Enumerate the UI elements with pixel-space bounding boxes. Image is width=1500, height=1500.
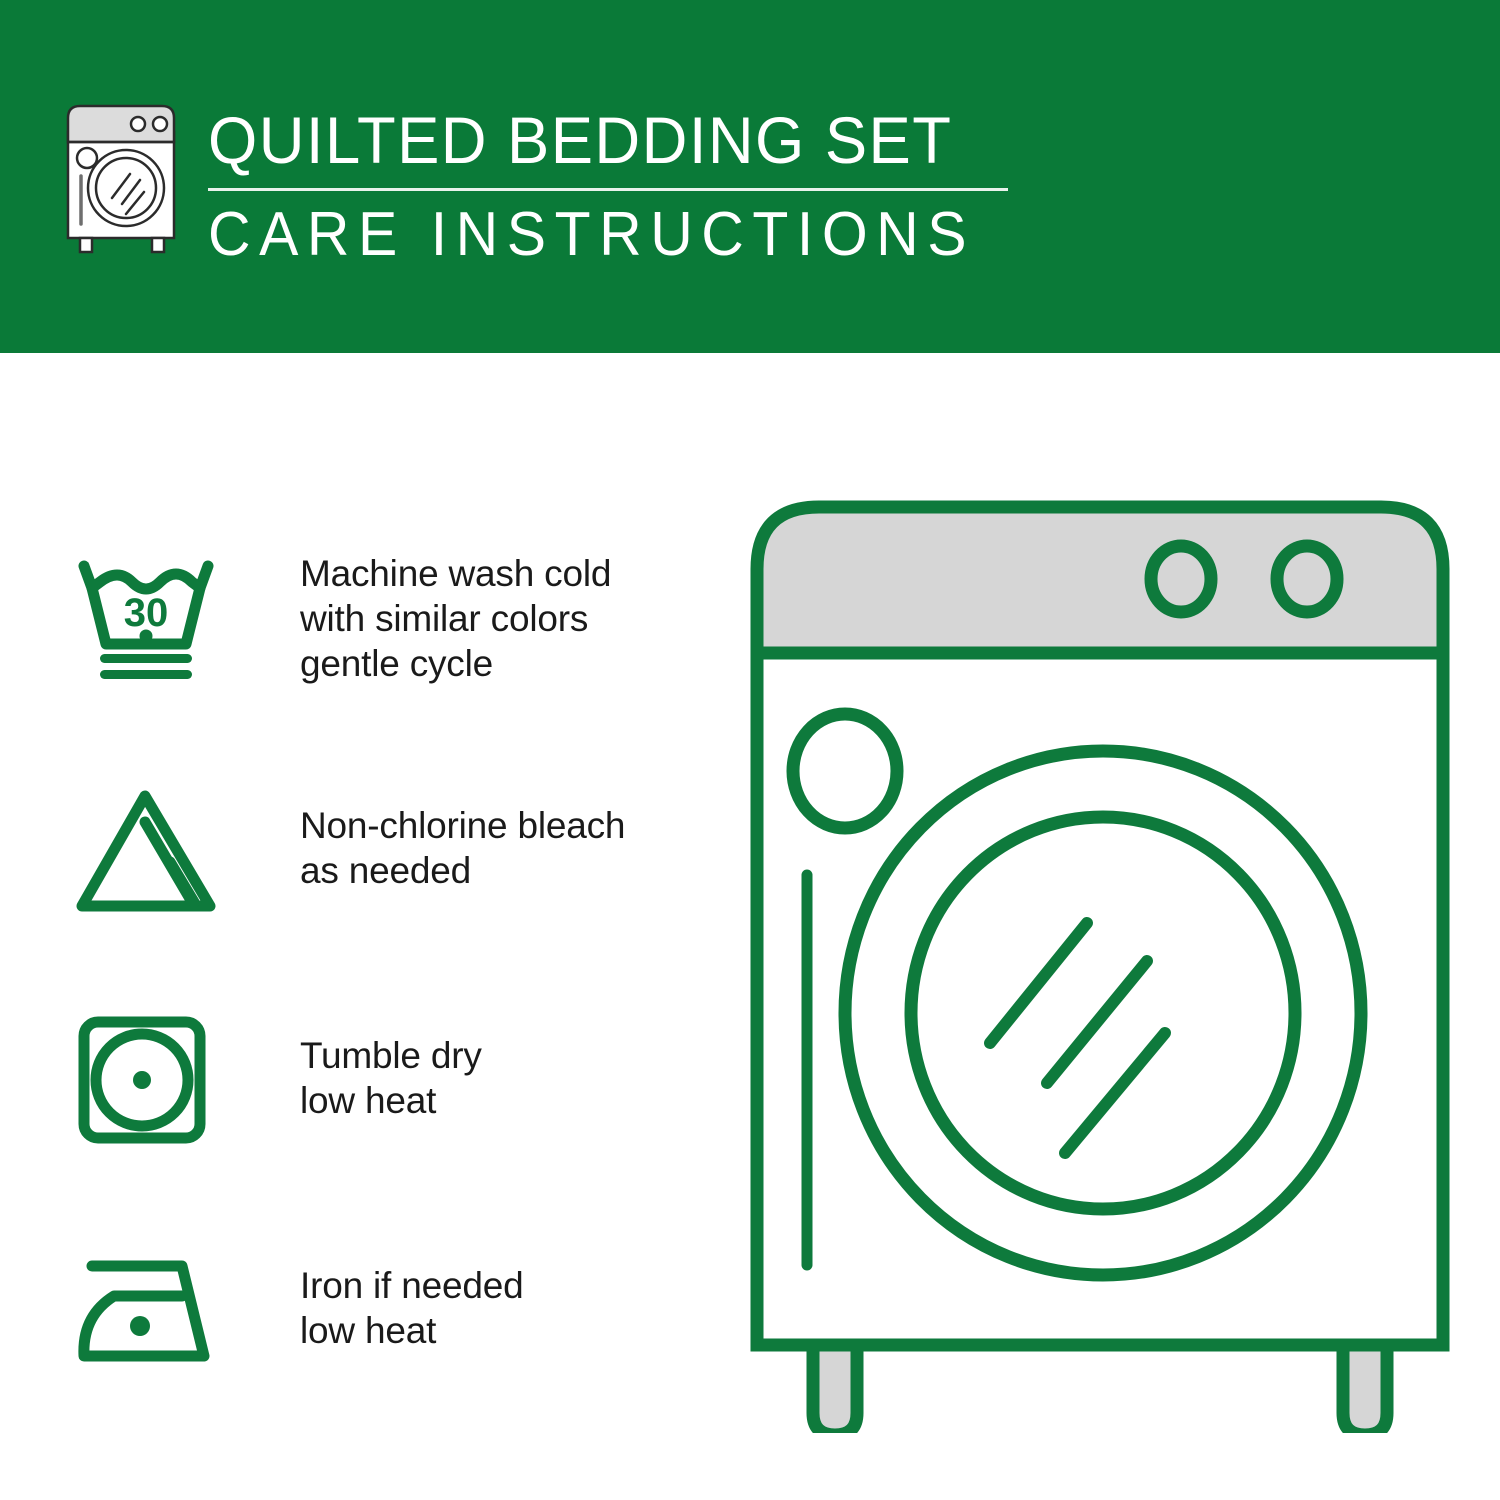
machine-wash-30-icon: 30 [70,548,245,688]
care-row-bleach: Non-chlorine bleach as needed [70,733,710,963]
care-label-tumble-dry: Tumble dry low heat [300,1033,482,1123]
leg-left [813,1345,857,1433]
header-title-block: QUILTED BEDDING SET CARE INSTRUCTIONS [208,96,1015,269]
care-label-machine-wash: Machine wash cold with similar colors ge… [300,551,611,686]
title-divider [208,188,1008,191]
iron-low-heat-icon [70,1238,245,1378]
care-instruction-list: 30 Machine wash cold with similar colors… [70,503,710,1423]
washing-machine-logo-icon [60,96,188,256]
washing-machine-illustration [735,483,1465,1433]
non-chlorine-bleach-triangle-icon [70,778,245,918]
care-label-bleach: Non-chlorine bleach as needed [300,803,625,893]
page-subtitle: CARE INSTRUCTIONS [208,201,975,269]
header-content: QUILTED BEDDING SET CARE INSTRUCTIONS [60,96,1015,269]
care-row-machine-wash: 30 Machine wash cold with similar colors… [70,503,710,733]
care-label-iron: Iron if needed low heat [300,1263,523,1353]
content-area: 30 Machine wash cold with similar colors… [0,353,1500,1500]
wash-temperature-value: 30 [124,591,169,635]
leg-right [1343,1345,1387,1433]
care-row-tumble-dry: Tumble dry low heat [70,963,710,1193]
tumble-dry-low-icon [70,1008,245,1148]
page-title: QUILTED BEDDING SET [208,104,983,176]
header-banner: QUILTED BEDDING SET CARE INSTRUCTIONS [0,0,1500,353]
care-row-iron: Iron if needed low heat [70,1193,710,1423]
